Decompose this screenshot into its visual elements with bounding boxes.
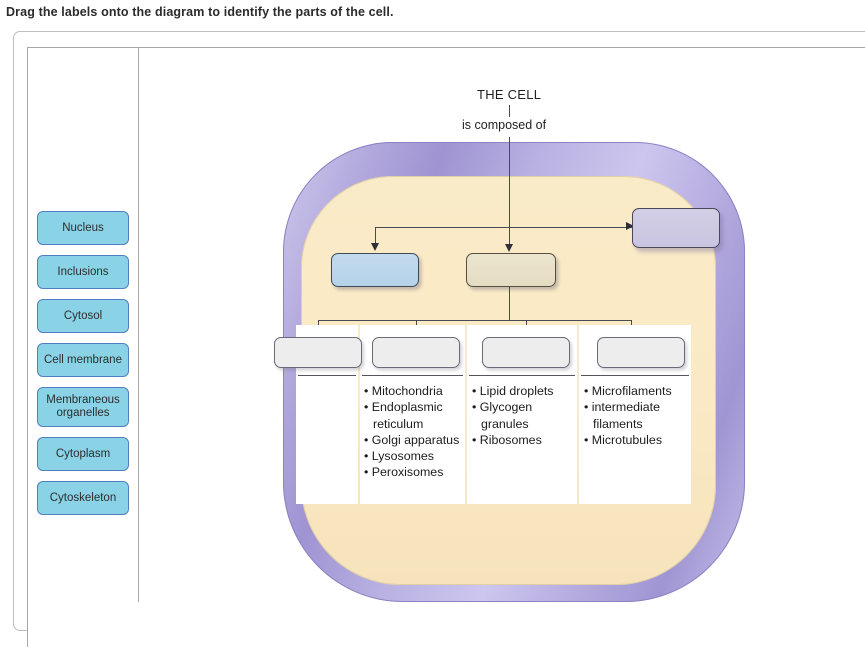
- list-item: Ribosomes: [472, 432, 577, 448]
- dropzone-nucleus[interactable]: [331, 253, 419, 287]
- diagram-title: THE CELL: [477, 87, 541, 102]
- trunk-arrowhead: [505, 244, 513, 252]
- draggable-label-cell-membrane[interactable]: Cell membrane: [37, 343, 129, 377]
- composed-of-label: is composed of: [462, 118, 546, 132]
- bullet-list-3: Lipid dropletsGlycogen granulesRibosomes: [472, 383, 577, 448]
- dropzone-cytoplasm[interactable]: [466, 253, 556, 287]
- branch-bus-line: [375, 227, 632, 228]
- draggable-label-cytoplasm[interactable]: Cytoplasm: [37, 437, 129, 471]
- draggable-label-cytosol[interactable]: Cytosol: [37, 299, 129, 333]
- list-item: Microfilaments: [584, 383, 692, 399]
- draggable-label-nucleus[interactable]: Nucleus: [37, 211, 129, 245]
- cytoplasm-stem-line: [509, 287, 510, 321]
- list-item: intermediate filaments: [584, 399, 692, 432]
- column-rule-1: [298, 375, 356, 376]
- column-rule-3: [469, 375, 575, 376]
- dropzone-bottom-3[interactable]: [482, 337, 570, 368]
- draggable-label-cytoskeleton[interactable]: Cytoskeleton: [37, 481, 129, 515]
- instruction-text: Drag the labels onto the diagram to iden…: [6, 5, 394, 19]
- nucleus-arrowhead: [371, 243, 379, 251]
- list-item: Glycogen granules: [472, 399, 577, 432]
- bullet-list-4: Microfilamentsintermediate filamentsMicr…: [584, 383, 692, 448]
- four-way-bus-line: [318, 320, 632, 321]
- list-item: Lysosomes: [364, 448, 464, 464]
- draggable-label-inclusions[interactable]: Inclusions: [37, 255, 129, 289]
- trunk-line: [509, 137, 510, 250]
- draggable-label-membraneous-organelles[interactable]: Membraneous organelles: [37, 387, 129, 427]
- column-rule-2: [362, 375, 463, 376]
- list-item: Golgi apparatus: [364, 432, 464, 448]
- dropzone-bottom-2[interactable]: [372, 337, 460, 368]
- title-connector-line: [509, 105, 510, 117]
- dropzone-cell-membrane[interactable]: [632, 208, 720, 248]
- list-item: Lipid droplets: [472, 383, 577, 399]
- list-item: Mitochondria: [364, 383, 464, 399]
- panel-divider: [138, 47, 139, 602]
- list-item: Peroxisomes: [364, 464, 464, 480]
- list-item: Endoplasmic reticulum: [364, 399, 464, 432]
- dropzone-bottom-4[interactable]: [597, 337, 685, 368]
- draggable-label-bank: Nucleus Inclusions Cytosol Cell membrane…: [37, 211, 129, 525]
- bullet-list-2: MitochondriaEndoplasmic reticulumGolgi a…: [364, 383, 464, 481]
- list-item: Microtubules: [584, 432, 692, 448]
- dropzone-bottom-1[interactable]: [274, 337, 362, 368]
- column-rule-4: [581, 375, 689, 376]
